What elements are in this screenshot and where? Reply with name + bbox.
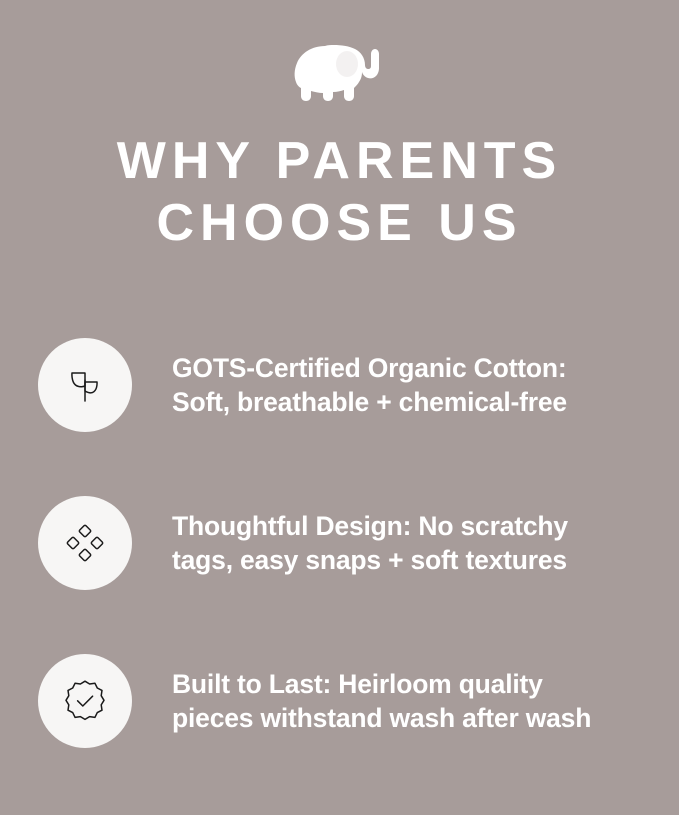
scalloped-check-badge-icon — [61, 677, 109, 725]
elephant-icon — [292, 36, 388, 102]
feature-icon-badge — [38, 496, 132, 590]
headline-line-1: WHY PARENTS — [0, 130, 679, 192]
feature-line-1: Thoughtful Design: No scratchy — [172, 509, 568, 543]
feature-row: GOTS-Certified Organic Cotton: Soft, bre… — [0, 306, 679, 464]
sprout-icon — [63, 363, 107, 407]
feature-line-2: pieces withstand wash after wash — [172, 701, 591, 735]
why-parents-choose-us-card: WHY PARENTS CHOOSE US GOTS-Certified Org… — [0, 0, 679, 815]
feature-line-1: Built to Last: Heirloom quality — [172, 667, 591, 701]
feature-icon-badge — [38, 654, 132, 748]
feature-list: GOTS-Certified Organic Cotton: Soft, bre… — [0, 306, 679, 780]
page-title: WHY PARENTS CHOOSE US — [0, 130, 679, 254]
headline-line-2: CHOOSE US — [0, 192, 679, 254]
feature-text: Built to Last: Heirloom quality pieces w… — [172, 667, 591, 735]
feature-row: Built to Last: Heirloom quality pieces w… — [0, 622, 679, 780]
feature-text: Thoughtful Design: No scratchy tags, eas… — [172, 509, 568, 577]
feature-icon-badge — [38, 338, 132, 432]
feature-line-2: tags, easy snaps + soft textures — [172, 543, 568, 577]
four-diamonds-icon — [63, 521, 107, 565]
feature-row: Thoughtful Design: No scratchy tags, eas… — [0, 464, 679, 622]
feature-line-1: GOTS-Certified Organic Cotton: — [172, 351, 567, 385]
feature-line-2: Soft, breathable + chemical-free — [172, 385, 567, 419]
brand-logo — [290, 34, 390, 104]
feature-text: GOTS-Certified Organic Cotton: Soft, bre… — [172, 351, 567, 419]
